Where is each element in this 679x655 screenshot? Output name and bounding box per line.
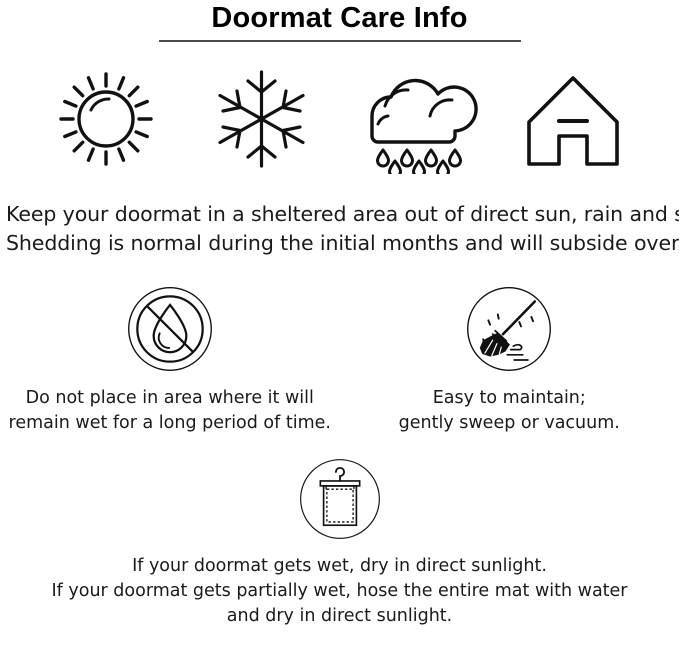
- no-water-icon: [127, 286, 213, 372]
- care-caption-no-water-line-1: Do not place in area where it will: [9, 386, 331, 411]
- page-title-block: Doormat Care Info: [0, 0, 679, 42]
- rain-cloud-icon: [352, 64, 482, 174]
- hang-to-dry-icon: [299, 458, 381, 540]
- dry-caption-line-1: If your doormat gets wet, dry in direct …: [52, 554, 628, 579]
- dry-caption-line-2: If your doormat gets partially wet, hose…: [52, 579, 628, 604]
- title-underline-rule: [159, 40, 521, 42]
- dry-instruction-block: If your doormat gets wet, dry in direct …: [0, 458, 679, 629]
- care-item-sweep: Easy to maintain; gently sweep or vacuum…: [340, 286, 679, 436]
- weather-cell-house: [503, 64, 643, 174]
- snowflake-icon: [209, 64, 314, 174]
- intro-line-1: Keep your doormat in a sheltered area ou…: [6, 200, 673, 229]
- care-caption-sweep-line-1: Easy to maintain;: [399, 386, 620, 411]
- weather-cell-rain-cloud: [347, 64, 487, 174]
- care-instruction-row: Do not place in area where it will remai…: [0, 286, 679, 436]
- sun-icon: [51, 64, 161, 174]
- intro-line-2: Shedding is normal during the initial mo…: [6, 229, 673, 258]
- care-item-no-water: Do not place in area where it will remai…: [0, 286, 340, 436]
- care-caption-no-water-line-2: remain wet for a long period of time.: [9, 411, 331, 436]
- dry-caption-line-3: and dry in direct sunlight.: [52, 604, 628, 629]
- weather-cell-snowflake: [192, 64, 332, 174]
- page-title: Doormat Care Info: [0, 2, 679, 34]
- weather-icon-row: [0, 64, 679, 174]
- care-caption-sweep: Easy to maintain; gently sweep or vacuum…: [399, 386, 620, 436]
- house-icon: [513, 64, 633, 174]
- care-caption-sweep-line-2: gently sweep or vacuum.: [399, 411, 620, 436]
- dry-caption: If your doormat gets wet, dry in direct …: [52, 554, 628, 629]
- intro-paragraph: Keep your doormat in a sheltered area ou…: [0, 200, 679, 258]
- care-caption-no-water: Do not place in area where it will remai…: [9, 386, 331, 436]
- broom-icon: [466, 286, 552, 372]
- weather-cell-sun: [36, 64, 176, 174]
